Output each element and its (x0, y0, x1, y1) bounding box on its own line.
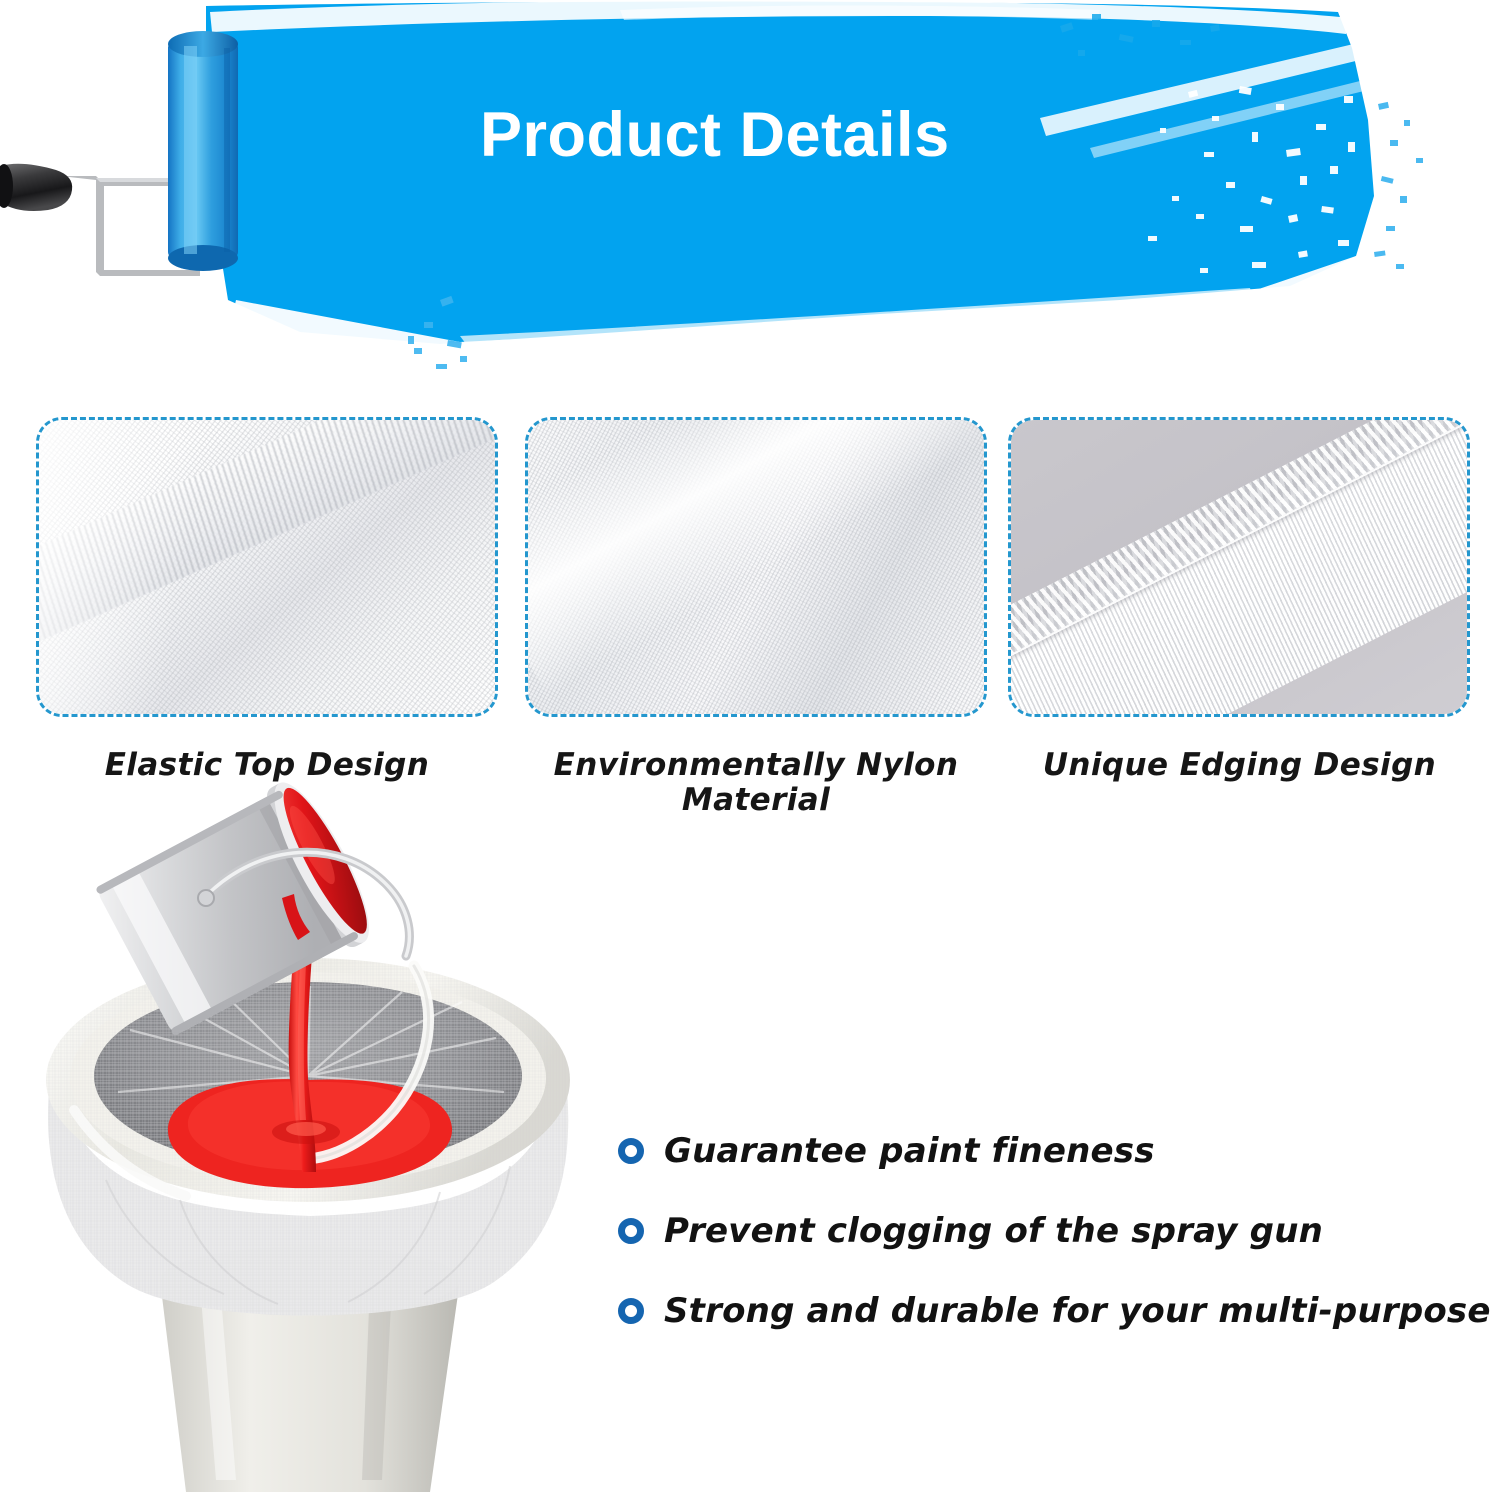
feature-caption-3: Unique Edging Design (1002, 748, 1477, 783)
feature-panel-nylon-material (525, 417, 987, 717)
product-photo-paint-straining (10, 780, 610, 1500)
page-title: Product Details (480, 104, 1080, 167)
bullet-ring-icon (618, 1298, 644, 1324)
bullet-ring-icon (618, 1218, 644, 1244)
mesh-band (1011, 420, 1467, 714)
banner-brushstroke-graphic (0, 0, 1500, 400)
fabric-texture-nylon (528, 420, 984, 714)
feature-panel-edging-design (1008, 417, 1470, 717)
feature-caption-1: Elastic Top Design (36, 748, 498, 783)
feature-panel-elastic-top (36, 417, 498, 717)
benefit-text-3: Strong and durable for your multi-purpos… (664, 1291, 1500, 1331)
benefits-list: Guarantee paint fineness Prevent cloggin… (618, 1118, 1498, 1358)
header-banner: Product Details (0, 0, 1500, 400)
product-details-page: Product Details Elastic Top Design Envir… (0, 0, 1500, 1500)
list-item: Strong and durable for your multi-purpos… (618, 1278, 1498, 1344)
bullet-ring-icon (618, 1138, 644, 1164)
benefit-text-2: Prevent clogging of the spray gun (664, 1211, 1323, 1251)
feature-image-edging-design (1011, 420, 1467, 714)
benefit-text-1: Guarantee paint fineness (664, 1131, 1155, 1171)
paint-pour-illustration (10, 780, 610, 1500)
fabric-texture-elastic (39, 420, 495, 714)
list-item: Guarantee paint fineness (618, 1118, 1498, 1184)
list-item: Prevent clogging of the spray gun (618, 1198, 1498, 1264)
fabric-texture-edging (1011, 420, 1467, 714)
feature-image-elastic-top (39, 420, 495, 714)
feature-image-nylon-material (528, 420, 984, 714)
